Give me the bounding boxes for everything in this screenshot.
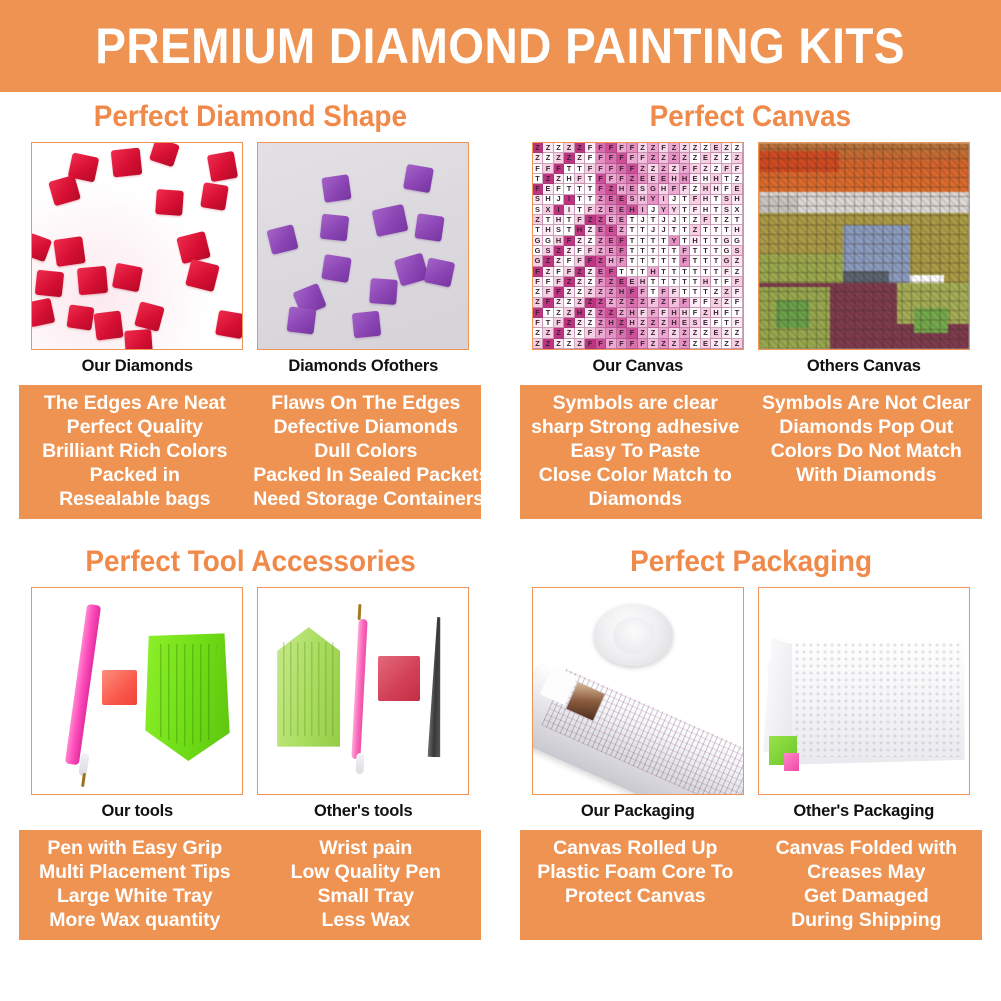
canvas-symbol-cell: Z [564, 328, 575, 338]
canvas-symbol-cell: S [638, 184, 649, 194]
canvas-symbol-cell: Z [722, 143, 733, 153]
canvas-symbol-cell: T [585, 174, 596, 184]
info-line: Diamonds [523, 487, 748, 511]
canvas-symbol-cell: S [722, 195, 733, 205]
info-line: Canvas Folded with [754, 836, 979, 860]
canvas-symbol-cell: Z [596, 287, 607, 297]
info-line: Multi Placement Tips [22, 860, 247, 884]
canvas-symbol-cell: G [533, 256, 544, 266]
canvas-symbol-cell: F [617, 339, 628, 349]
canvas-symbol-cell: E [606, 195, 617, 205]
canvas-symbol-cell: Z [638, 328, 649, 338]
canvas-symbol-cell: Z [575, 328, 586, 338]
canvas-symbol-cell: H [732, 225, 743, 235]
canvas-symbol-cell: F [638, 287, 649, 297]
info-line: Resealable bags [22, 487, 247, 511]
canvas-symbol-cell: E [659, 174, 670, 184]
canvas-symbol-cell: F [690, 298, 701, 308]
canvas-symbol-cell: F [722, 184, 733, 194]
canvas-symbol-cell: Z [533, 298, 544, 308]
canvas-symbol-cell: Z [543, 267, 554, 277]
canvas-symbol-cell: Z [680, 153, 691, 163]
canvas-symbol-cell: F [606, 267, 617, 277]
canvas-symbol-cell: H [690, 236, 701, 246]
canvas-symbol-cell: Z [648, 153, 659, 163]
canvas-symbol-cell: S [543, 246, 554, 256]
photo-captions: Our Diamonds Diamonds Ofothers [0, 357, 501, 376]
canvas-symbol-cell: T [585, 184, 596, 194]
pink-pen [351, 619, 367, 759]
canvas-symbol-cell: T [627, 215, 638, 225]
canvas-symbol-cell: F [680, 298, 691, 308]
canvas-symbol-cell: F [596, 328, 607, 338]
canvas-symbol-cell: E [701, 153, 712, 163]
canvas-symbol-cell: T [564, 225, 575, 235]
canvas-symbol-cell: Z [648, 164, 659, 174]
canvas-symbol-cell: F [617, 153, 628, 163]
canvas-symbol-cell: T [669, 277, 680, 287]
info-line: Large White Tray [22, 884, 247, 908]
canvas-symbol-cell: F [575, 215, 586, 225]
canvas-symbol-cell: Z [585, 215, 596, 225]
canvas-symbol-cell: H [543, 195, 554, 205]
canvas-symbol-cell: F [585, 256, 596, 266]
canvas-symbol-cell: F [722, 164, 733, 174]
canvas-symbol-cell: H [669, 174, 680, 184]
canvas-symbol-cell: F [533, 308, 544, 318]
canvas-symbol-cell: Z [585, 308, 596, 318]
info-line: Pen with Easy Grip [22, 836, 247, 860]
canvas-symbol-cell: Z [669, 328, 680, 338]
canvas-symbol-cell: T [648, 236, 659, 246]
canvas-symbol-cell: T [722, 174, 733, 184]
canvas-symbol-cell: T [575, 195, 586, 205]
canvas-symbol-grid: ZZZZZFFFFFZZFZZZZEZZZZZZZFFFFFFZZZZZEZZZ… [533, 143, 743, 349]
canvas-symbol-cell: T [638, 236, 649, 246]
canvas-symbol-cell: G [722, 236, 733, 246]
caption-others-tools: Other's tools [257, 802, 469, 821]
caption-others-diamonds: Diamonds Ofothers [257, 357, 469, 376]
canvas-symbol-cell: F [669, 184, 680, 194]
canvas-symbol-cell: F [638, 153, 649, 163]
canvas-symbol-cell: Z [711, 164, 722, 174]
canvas-symbol-cell: E [732, 184, 743, 194]
section-packaging: Perfect Packaging [501, 537, 1001, 940]
canvas-symbol-cell: J [659, 215, 670, 225]
canvas-symbol-cell: E [617, 277, 628, 287]
canvas-symbol-cell: E [606, 246, 617, 256]
canvas-symbol-cell: Z [638, 143, 649, 153]
canvas-symbol-cell: T [690, 256, 701, 266]
canvas-symbol-cell: T [680, 267, 691, 277]
canvas-symbol-cell: T [690, 246, 701, 256]
canvas-symbol-cell: F [680, 184, 691, 194]
canvas-symbol-cell: Z [585, 267, 596, 277]
canvas-symbol-cell: F [659, 328, 670, 338]
canvas-symbol-cell: F [648, 308, 659, 318]
canvas-symbol-cell: H [554, 215, 565, 225]
canvas-symbol-cell: S [554, 225, 565, 235]
canvas-symbol-cell: Z [596, 236, 607, 246]
canvas-symbol-cell: F [732, 318, 743, 328]
info-line: During Shipping [754, 908, 979, 932]
canvas-symbol-cell: Z [722, 328, 733, 338]
canvas-symbol-cell: F [564, 256, 575, 266]
canvas-symbol-cell: Z [690, 184, 701, 194]
canvas-symbol-cell: Z [554, 308, 565, 318]
canvas-symbol-cell: Z [554, 256, 565, 266]
canvas-symbol-cell: F [554, 318, 565, 328]
canvas-symbol-cell: Z [585, 318, 596, 328]
canvas-symbol-cell: Z [659, 298, 670, 308]
canvas-symbol-cell: H [564, 174, 575, 184]
section-title-wrap: Perfect Packaging [501, 537, 1001, 587]
canvas-symbol-cell: T [564, 184, 575, 194]
section-tool-accessories: Perfect Tool Accessories [0, 537, 501, 940]
canvas-symbol-cell: Z [554, 339, 565, 349]
canvas-symbol-cell: F [585, 328, 596, 338]
canvas-symbol-cell: G [543, 236, 554, 246]
pen-tip [356, 753, 365, 774]
canvas-symbol-cell: F [732, 298, 743, 308]
info-line: Low Quality Pen [253, 860, 478, 884]
canvas-symbol-cell: F [606, 328, 617, 338]
info-line: Packed in [22, 463, 247, 487]
section-title-wrap: Perfect Diamond Shape [0, 92, 501, 142]
infobox-tool-accessories: Pen with Easy Grip Multi Placement Tips … [19, 830, 481, 940]
info-line: Defective Diamonds [253, 415, 478, 439]
canvas-symbol-cell: E [627, 184, 638, 194]
info-line: Symbols are clear [523, 391, 748, 415]
canvas-symbol-cell: Z [596, 246, 607, 256]
section-canvas: Perfect Canvas ZZZZZFFFFFZZFZZZZEZZZZZZZ… [501, 92, 1001, 519]
canvas-symbol-cell: S [732, 246, 743, 256]
wax-square [102, 670, 138, 705]
canvas-symbol-cell: F [585, 339, 596, 349]
canvas-symbol-cell: Z [680, 143, 691, 153]
info-line: Diamonds Pop Out [754, 415, 979, 439]
canvas-symbol-cell: Z [585, 236, 596, 246]
canvas-symbol-cell: F [617, 143, 628, 153]
canvas-symbol-cell: H [606, 256, 617, 266]
infobox-ours-diamond-shape: The Edges Are Neat Perfect Quality Brill… [19, 391, 250, 511]
canvas-symbol-cell: G [722, 246, 733, 256]
canvas-symbol-cell: G [648, 184, 659, 194]
canvas-symbol-cell: Z [533, 287, 544, 297]
others-tools-photo [257, 587, 469, 795]
canvas-symbol-cell: F [606, 143, 617, 153]
page-header: PREMIUM DIAMOND PAINTING KITS [0, 0, 1001, 92]
canvas-symbol-cell: T [690, 287, 701, 297]
canvas-symbol-cell: E [596, 225, 607, 235]
grid-texture [759, 143, 969, 349]
canvas-symbol-cell: J [659, 225, 670, 235]
canvas-symbol-cell: H [554, 236, 565, 246]
canvas-symbol-cell: F [669, 287, 680, 297]
canvas-symbol-cell: T [669, 267, 680, 277]
canvas-symbol-cell: T [543, 215, 554, 225]
canvas-symbol-cell: Z [680, 328, 691, 338]
canvas-symbol-cell: T [711, 267, 722, 277]
photo-pair-canvas: ZZZZZFFFFFZZFZZZZEZZZZZZZFFFFFFZZZZZEZZZ… [501, 142, 1001, 350]
canvas-symbol-cell: H [638, 195, 649, 205]
canvas-symbol-cell: T [543, 308, 554, 318]
caption-our-tools: Our tools [31, 802, 243, 821]
canvas-symbol-cell: T [701, 246, 712, 256]
info-line: Dull Colors [253, 439, 478, 463]
canvas-symbol-cell: F [543, 164, 554, 174]
canvas-symbol-cell: E [627, 277, 638, 287]
canvas-symbol-cell: Y [669, 205, 680, 215]
canvas-symbol-cell: H [711, 174, 722, 184]
canvas-symbol-cell: T [648, 287, 659, 297]
infobox-theirs-tools: Wrist pain Low Quality Pen Small Tray Le… [250, 836, 481, 932]
canvas-symbol-cell: F [585, 143, 596, 153]
canvas-symbol-cell: T [638, 256, 649, 266]
canvas-symbol-cell: H [701, 205, 712, 215]
canvas-symbol-cell: F [554, 277, 565, 287]
canvas-symbol-cell: X [543, 205, 554, 215]
canvas-symbol-cell: T [575, 184, 586, 194]
canvas-symbol-cell: Z [554, 298, 565, 308]
canvas-symbol-cell: T [659, 256, 670, 266]
canvas-symbol-cell: Z [575, 318, 586, 328]
info-line: Protect Canvas [523, 884, 748, 908]
canvas-symbol-cell: F [659, 287, 670, 297]
canvas-symbol-cell: J [648, 205, 659, 215]
canvas-symbol-cell: T [564, 215, 575, 225]
canvas-symbol-cell: E [606, 205, 617, 215]
canvas-symbol-cell: F [533, 267, 544, 277]
canvas-symbol-cell: F [543, 287, 554, 297]
canvas-symbol-cell: F [554, 287, 565, 297]
canvas-symbol-cell: F [554, 267, 565, 277]
section-title-wrap: Perfect Canvas [501, 92, 1001, 142]
canvas-symbol-cell: F [596, 277, 607, 287]
info-line: Plastic Foam Core To [523, 860, 748, 884]
canvas-symbol-cell: F [638, 339, 649, 349]
infobox-theirs-diamond-shape: Flaws On The Edges Defective Diamonds Du… [250, 391, 481, 511]
canvas-symbol-cell: Z [732, 267, 743, 277]
canvas-symbol-cell: E [638, 174, 649, 184]
caption-our-canvas: Our Canvas [532, 357, 744, 376]
canvas-symbol-cell: Z [711, 153, 722, 163]
canvas-symbol-cell: Z [564, 287, 575, 297]
canvas-symbol-cell: Z [554, 153, 565, 163]
canvas-symbol-cell: H [638, 277, 649, 287]
canvas-symbol-cell: Z [533, 153, 544, 163]
our-tools-photo [31, 587, 243, 795]
canvas-symbol-cell: Z [701, 143, 712, 153]
canvas-symbol-cell: F [533, 184, 544, 194]
canvas-symbol-cell: E [701, 318, 712, 328]
canvas-symbol-cell: J [648, 225, 659, 235]
canvas-symbol-cell: F [606, 153, 617, 163]
canvas-symbol-cell: T [669, 246, 680, 256]
canvas-symbol-cell: E [606, 225, 617, 235]
canvas-symbol-cell: Z [690, 225, 701, 235]
canvas-symbol-cell: F [680, 256, 691, 266]
canvas-symbol-cell: F [606, 164, 617, 174]
our-diamonds-photo [31, 142, 243, 350]
canvas-symbol-cell: F [648, 298, 659, 308]
our-packaging-photo [532, 587, 744, 795]
canvas-symbol-cell: Z [585, 277, 596, 287]
canvas-symbol-cell: F [722, 308, 733, 318]
canvas-symbol-cell: F [596, 174, 607, 184]
canvas-symbol-cell: Z [606, 184, 617, 194]
canvas-symbol-cell: T [711, 215, 722, 225]
info-line: Creases May [754, 860, 979, 884]
canvas-symbol-cell: E [617, 205, 628, 215]
canvas-symbol-cell: Z [638, 164, 649, 174]
canvas-symbol-cell: H [627, 205, 638, 215]
canvas-symbol-cell: I [554, 205, 565, 215]
canvas-symbol-cell: F [722, 267, 733, 277]
canvas-symbol-cell: Z [596, 205, 607, 215]
info-line: The Edges Are Neat [22, 391, 247, 415]
canvas-symbol-cell: H [701, 195, 712, 205]
canvas-symbol-cell: I [564, 205, 575, 215]
canvas-symbol-cell: Z [596, 256, 607, 266]
canvas-symbol-cell: Z [596, 318, 607, 328]
infobox-packaging: Canvas Rolled Up Plastic Foam Core To Pr… [520, 830, 982, 940]
canvas-symbol-cell: Y [648, 195, 659, 205]
canvas-symbol-cell: Z [543, 143, 554, 153]
canvas-symbol-cell: Z [564, 277, 575, 287]
canvas-symbol-cell: H [543, 225, 554, 235]
section-title-canvas: Perfect Canvas [650, 100, 852, 134]
canvas-symbol-cell: F [701, 298, 712, 308]
our-canvas-photo: ZZZZZFFFFFZZFZZZZEZZZZZZZFFFFFFZZZZZEZZZ… [532, 142, 744, 350]
canvas-symbol-cell: T [575, 164, 586, 174]
canvas-symbol-cell: T [711, 246, 722, 256]
canvas-symbol-cell: T [533, 225, 544, 235]
caption-others-canvas: Others Canvas [758, 357, 970, 376]
canvas-symbol-cell: H [701, 174, 712, 184]
canvas-symbol-cell: F [533, 164, 544, 174]
canvas-symbol-cell: T [701, 267, 712, 277]
canvas-symbol-cell: T [732, 308, 743, 318]
canvas-symbol-cell: S [533, 195, 544, 205]
canvas-symbol-cell: Z [659, 339, 670, 349]
canvas-symbol-cell: F [543, 298, 554, 308]
canvas-symbol-cell: Z [617, 308, 628, 318]
canvas-symbol-cell: T [722, 318, 733, 328]
canvas-symbol-cell: T [648, 277, 659, 287]
canvas-symbol-cell: F [606, 174, 617, 184]
canvas-symbol-cell: Z [585, 287, 596, 297]
canvas-symbol-cell: Z [722, 287, 733, 297]
canvas-symbol-cell: Z [659, 164, 670, 174]
tweezers [428, 617, 445, 757]
canvas-symbol-cell: F [711, 318, 722, 328]
canvas-symbol-cell: T [627, 225, 638, 235]
canvas-symbol-cell: Z [554, 143, 565, 153]
canvas-symbol-cell: T [638, 267, 649, 277]
photo-captions: Our tools Other's tools [0, 802, 501, 821]
info-line: Get Damaged [754, 884, 979, 908]
canvas-symbol-cell: F [543, 277, 554, 287]
canvas-symbol-cell: Z [659, 318, 670, 328]
canvas-symbol-cell: T [701, 287, 712, 297]
info-line: Small Tray [253, 884, 478, 908]
caption-others-packaging: Other's Packaging [758, 802, 970, 821]
info-line: Colors Do Not Match [754, 439, 979, 463]
infobox-theirs-packaging: Canvas Folded with Creases May Get Damag… [751, 836, 982, 932]
info-line: Perfect Quality [22, 415, 247, 439]
canvas-symbol-cell: F [564, 267, 575, 277]
info-line: Less Wax [253, 908, 478, 932]
canvas-symbol-cell: J [554, 195, 565, 205]
canvas-symbol-cell: Z [543, 153, 554, 163]
infobox-theirs-canvas: Symbols Are Not Clear Diamonds Pop Out C… [751, 391, 982, 511]
canvas-symbol-cell: F [722, 277, 733, 287]
canvas-symbol-cell: Z [690, 339, 701, 349]
small-tray-grooves [283, 642, 333, 737]
canvas-symbol-cell: F [585, 246, 596, 256]
canvas-symbol-cell: F [627, 339, 638, 349]
canvas-symbol-cell: Z [711, 298, 722, 308]
canvas-symbol-cell: H [711, 308, 722, 318]
canvas-symbol-cell: Z [606, 308, 617, 318]
canvas-symbol-cell: Z [575, 143, 586, 153]
canvas-symbol-cell: F [564, 236, 575, 246]
canvas-symbol-cell: Z [564, 308, 575, 318]
canvas-symbol-cell: E [711, 143, 722, 153]
canvas-symbol-cell: T [680, 195, 691, 205]
canvas-symbol-cell: Z [564, 153, 575, 163]
canvas-symbol-cell: Z [575, 236, 586, 246]
canvas-symbol-cell: H [701, 277, 712, 287]
tube-cap-inner [613, 617, 655, 654]
canvas-symbol-cell: Z [617, 225, 628, 235]
canvas-symbol-cell: Y [659, 205, 670, 215]
canvas-symbol-cell: T [638, 246, 649, 256]
canvas-symbol-cell: Z [722, 215, 733, 225]
canvas-symbol-cell: T [711, 236, 722, 246]
canvas-symbol-cell: Z [638, 318, 649, 328]
canvas-symbol-cell: Z [627, 174, 638, 184]
canvas-symbol-cell: T [680, 205, 691, 215]
section-title-wrap: Perfect Tool Accessories [0, 537, 501, 587]
canvas-symbol-cell: F [627, 328, 638, 338]
canvas-symbol-cell: Z [701, 164, 712, 174]
info-line: Brilliant Rich Colors [22, 439, 247, 463]
canvas-symbol-cell: H [732, 195, 743, 205]
canvas-symbol-cell: Z [711, 339, 722, 349]
canvas-symbol-cell: T [627, 236, 638, 246]
canvas-symbol-cell: S [722, 205, 733, 215]
info-line: Flaws On The Edges [253, 391, 478, 415]
canvas-symbol-cell: T [711, 277, 722, 287]
canvas-symbol-cell: F [596, 143, 607, 153]
canvas-symbol-cell: H [617, 287, 628, 297]
others-packaging-photo [758, 587, 970, 795]
canvas-symbol-cell: Z [575, 298, 586, 308]
canvas-symbol-cell: T [722, 225, 733, 235]
info-line: Easy To Paste [523, 439, 748, 463]
canvas-symbol-cell: Z [533, 328, 544, 338]
canvas-symbol-cell: Z [606, 287, 617, 297]
canvas-symbol-cell: T [585, 195, 596, 205]
photo-pair-packaging [501, 587, 1001, 795]
canvas-symbol-cell: Z [690, 153, 701, 163]
canvas-symbol-cell: F [554, 164, 565, 174]
canvas-symbol-cell: Z [564, 143, 575, 153]
canvas-symbol-cell: Z [732, 328, 743, 338]
info-line: sharp Strong adhesive [523, 415, 748, 439]
